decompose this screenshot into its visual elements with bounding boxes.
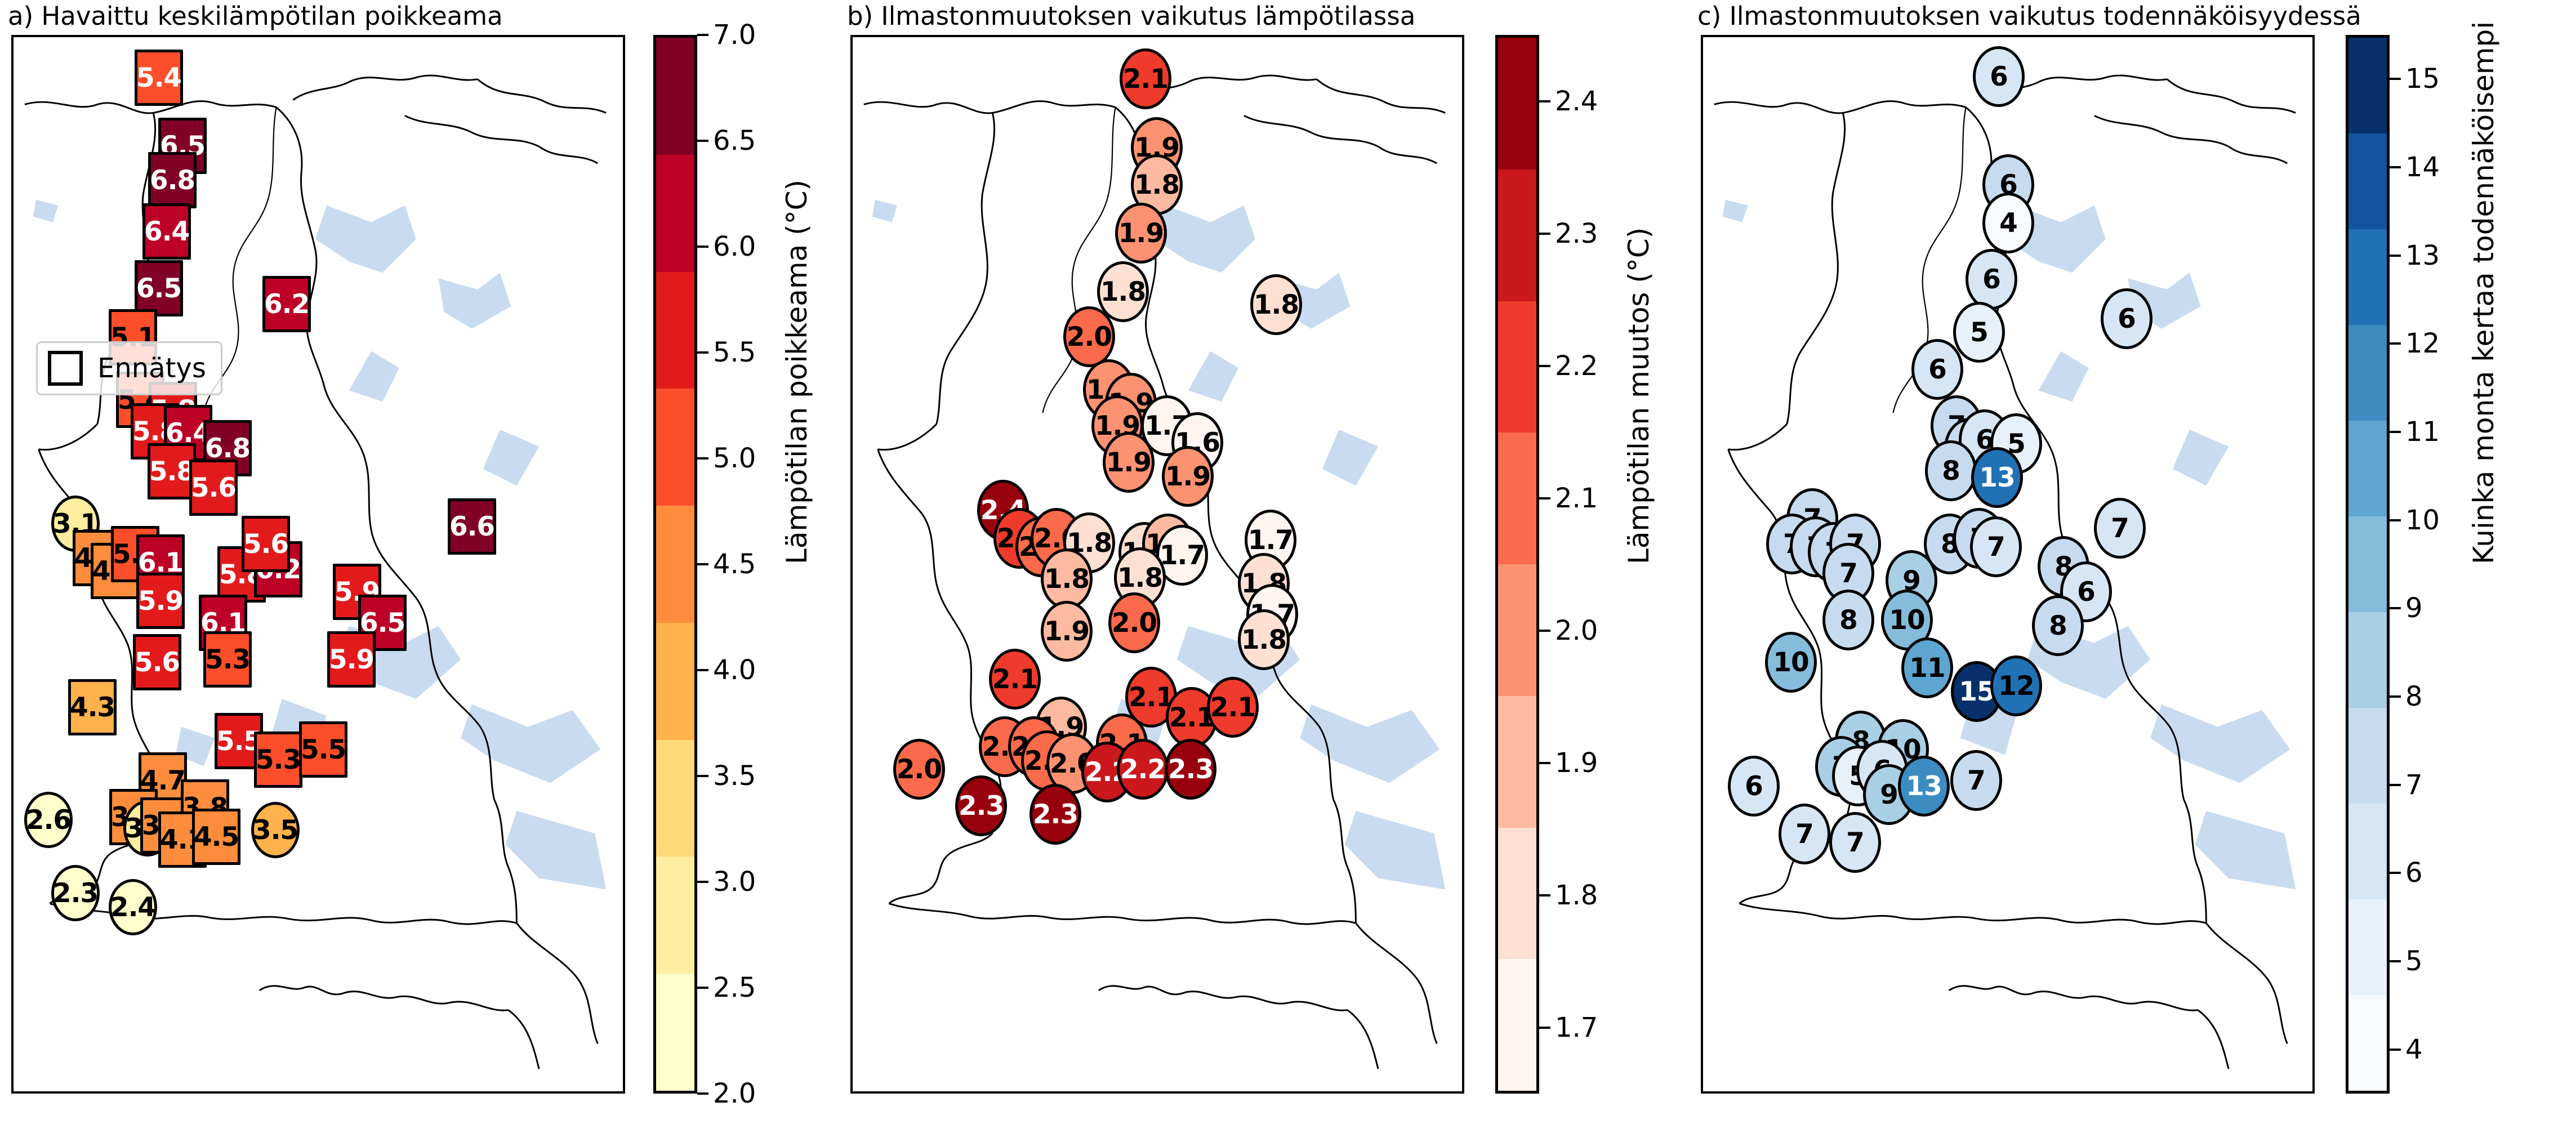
tick-mark	[2390, 431, 2401, 433]
station-marker[interactable]: 5.6	[189, 460, 238, 516]
tick-mark	[697, 246, 708, 248]
station-marker[interactable]: 7	[1779, 804, 1830, 864]
station-marker[interactable]: 2.3	[1165, 739, 1216, 800]
panel-c: c) Ilmastonmuutoksen vaikutus todennäköi…	[1667, 0, 2576, 1133]
colorbar-b-tick: 1.8	[1539, 880, 1598, 911]
colorbar-b-label: Lämpötilan muutos (°C)	[1623, 228, 1655, 564]
tick-mark	[697, 1092, 708, 1095]
station-marker[interactable]: 6	[1966, 249, 2017, 310]
legend-record-label: Ennätys	[97, 353, 206, 384]
tick-mark	[697, 34, 708, 36]
colorbar-c-gradient	[2346, 35, 2390, 1094]
station-marker[interactable]: 2.3	[51, 865, 100, 921]
tick-mark	[1539, 365, 1550, 367]
colorbar-a-segment-7	[656, 155, 694, 272]
colorbar-a-segment-4	[656, 506, 694, 623]
colorbar-c-tick: 11	[2390, 416, 2440, 448]
colorbar-b-segment-5	[1498, 301, 1536, 433]
colorbar-c-segment-9	[2348, 133, 2387, 229]
colorbar-a-tick: 7.0	[697, 19, 756, 51]
tick-label: 8	[2405, 681, 2423, 712]
tick-mark	[2390, 166, 2401, 168]
tick-label: 1.9	[1555, 747, 1598, 779]
station-marker[interactable]: 6	[1973, 46, 2025, 107]
colorbar-c-tick: 15	[2390, 63, 2440, 95]
tick-label: 2.5	[713, 972, 756, 1003]
colorbar-c-tick: 9	[2390, 592, 2423, 624]
tick-mark	[1539, 497, 1550, 499]
colorbar-c-tick: 8	[2390, 681, 2423, 712]
tick-mark	[697, 351, 708, 354]
colorbar-b-tick: 1.9	[1539, 747, 1598, 779]
colorbar-c-segment-1	[2348, 899, 2387, 995]
station-marker[interactable]: 4.5	[192, 809, 240, 865]
station-marker[interactable]: 2.6	[24, 792, 73, 848]
station-marker[interactable]: 13	[1898, 756, 1950, 817]
station-marker[interactable]: 1.8	[1250, 274, 1302, 335]
colorbar-b-segment-0	[1498, 959, 1536, 1091]
station-marker[interactable]: 2.0	[1108, 592, 1160, 653]
tick-mark	[1539, 233, 1550, 235]
tick-mark	[697, 881, 708, 883]
colorbar-b-gradient	[1495, 35, 1539, 1094]
tick-label: 6.5	[713, 125, 756, 157]
colorbar-b-segment-3	[1498, 564, 1536, 696]
colorbar-a-tick: 2.5	[697, 972, 756, 1003]
tick-label: 2.1	[1555, 483, 1598, 514]
tick-mark	[697, 457, 708, 460]
station-marker[interactable]: 2.2	[1117, 739, 1169, 800]
tick-mark	[2390, 695, 2401, 698]
map-c-axes[interactable]: 6646566776581377777787779868108101115128…	[1701, 35, 2315, 1094]
colorbar-c-tick: 4	[2390, 1034, 2423, 1065]
station-marker[interactable]: 2.0	[893, 739, 945, 800]
station-marker[interactable]: 5.9	[327, 631, 376, 688]
colorbar-a-segment-1	[656, 857, 694, 974]
station-marker[interactable]: 5.9	[136, 573, 185, 629]
tick-label: 7.0	[713, 19, 756, 51]
tick-label: 3.5	[713, 760, 756, 792]
colorbar-a-gradient	[653, 35, 697, 1094]
colorbar-c-segment-0	[2348, 995, 2387, 1091]
colorbar-c-segment-3	[2348, 708, 2387, 804]
tick-label: 6	[2405, 857, 2423, 889]
station-marker[interactable]: 2.3	[955, 775, 1007, 836]
colorbar-b-segment-2	[1498, 696, 1536, 828]
colorbar-b-tick: 2.1	[1539, 483, 1598, 514]
colorbar-a-segment-8	[656, 38, 694, 155]
climate-figure: a) Havaittu keskilämpötilan poikkeama	[0, 0, 2576, 1133]
tick-label: 4.0	[713, 654, 756, 686]
station-marker[interactable]: 7	[1970, 516, 2022, 577]
colorbar-a-tick: 6.0	[697, 231, 756, 262]
colorbar-c-label: Kuinka monta kertaa todennäköisempi	[2467, 21, 2500, 564]
tick-label: 1.7	[1555, 1012, 1598, 1043]
tick-mark	[2390, 960, 2401, 962]
colorbar-a-label: Lämpötilan poikkeama (°C)	[781, 180, 813, 564]
station-marker[interactable]: 6	[1728, 756, 1780, 817]
colorbar-a-segment-0	[656, 974, 694, 1091]
tick-mark	[697, 563, 708, 565]
station-marker[interactable]: 8	[2032, 595, 2084, 656]
tick-label: 5	[2405, 945, 2423, 977]
station-marker[interactable]: 2.3	[1029, 784, 1081, 845]
tick-mark	[2390, 872, 2401, 874]
colorbar-b-tick: 2.3	[1539, 218, 1598, 249]
colorbar-c-segment-6	[2348, 421, 2387, 516]
station-marker[interactable]: 2.1	[989, 649, 1041, 710]
station-marker[interactable]: 8	[1822, 590, 1874, 650]
station-marker[interactable]: 5	[1953, 302, 2005, 363]
tick-label: 12	[2405, 328, 2440, 359]
tick-mark	[697, 987, 708, 989]
tick-mark	[697, 669, 708, 671]
panel-b: b) Ilmastonmuutoksen vaikutus lämpötilas…	[822, 0, 1667, 1133]
station-marker[interactable]: 1.9	[1162, 446, 1214, 507]
colorbar-a-segment-6	[656, 272, 694, 389]
colorbar-a-segment-3	[656, 623, 694, 740]
colorbar-b-segment-6	[1498, 169, 1536, 301]
station-marker[interactable]: 11	[1901, 637, 1953, 698]
tick-label: 13	[2405, 240, 2440, 271]
colorbar-c-tick: 6	[2390, 857, 2423, 889]
station-marker[interactable]: 7	[1829, 812, 1881, 873]
colorbar-b-tick: 2.0	[1539, 615, 1598, 646]
station-marker[interactable]: 1.8	[1041, 548, 1093, 609]
station-marker[interactable]: 6.4	[142, 203, 191, 260]
station-marker[interactable]: 5.3	[254, 731, 302, 788]
station-marker[interactable]: 1.9	[1041, 601, 1093, 662]
panel-c-title: c) Ilmastonmuutoksen vaikutus todennäköi…	[1697, 1, 2361, 31]
map-a-axes[interactable]: 5.46.56.86.46.56.25.15.45.85.86.46.85.85…	[11, 35, 625, 1094]
tick-mark	[697, 140, 708, 142]
colorbar-b-ticks: 2.42.32.22.12.01.91.81.7	[1539, 35, 1635, 1094]
colorbar-c-segment-10	[2348, 38, 2387, 133]
station-marker[interactable]: 12	[1990, 655, 2042, 716]
colorbar-c-tick: 12	[2390, 328, 2440, 359]
station-marker[interactable]: 6.2	[262, 276, 311, 332]
colorbar-c-segment-5	[2348, 516, 2387, 612]
tick-label: 6.0	[713, 231, 756, 262]
colorbar-b-tick: 2.4	[1539, 86, 1598, 117]
tick-mark	[2390, 342, 2401, 345]
panel-a-title: a) Havaittu keskilämpötilan poikkeama	[8, 1, 503, 31]
station-marker[interactable]: 5.6	[133, 634, 181, 690]
tick-mark	[697, 775, 708, 777]
colorbar-c-segment-2	[2348, 804, 2387, 899]
legend-record-swatch	[48, 351, 83, 386]
tick-mark	[2390, 255, 2401, 257]
colorbar-a-tick: 3.0	[697, 866, 756, 898]
station-marker[interactable]: 1.9	[1103, 432, 1155, 493]
colorbar-a-segment-5	[656, 389, 694, 506]
tick-label: 2.4	[1555, 86, 1598, 117]
station-marker[interactable]: 6.8	[148, 152, 197, 208]
colorbar-c-tick: 5	[2390, 945, 2423, 977]
tick-label: 2.2	[1555, 350, 1598, 382]
colorbar-c-segment-4	[2348, 612, 2387, 708]
colorbar-c-segment-7	[2348, 325, 2387, 421]
tick-label: 10	[2405, 505, 2440, 536]
colorbar-a-tick: 2.0	[697, 1078, 756, 1109]
tick-label: 2.0	[1555, 615, 1598, 646]
colorbar-a-ticks: 7.06.56.05.55.04.54.03.53.02.52.0	[697, 35, 793, 1094]
tick-mark	[2390, 784, 2401, 786]
tick-label: 2.0	[713, 1078, 756, 1109]
tick-label: 14	[2405, 151, 2440, 183]
station-marker[interactable]: 6.5	[135, 260, 183, 316]
tick-mark	[1539, 894, 1550, 896]
panel-a: a) Havaittu keskilämpötilan poikkeama	[0, 0, 822, 1133]
tick-label: 9	[2405, 592, 2423, 624]
colorbar-c-segment-8	[2348, 229, 2387, 325]
station-marker[interactable]: 5.6	[242, 516, 290, 572]
station-marker[interactable]: 10	[1765, 632, 1817, 693]
station-marker[interactable]: 5.4	[135, 50, 183, 106]
colorbar-a-tick: 5.0	[697, 443, 756, 474]
station-marker[interactable]: 2.0	[1063, 306, 1115, 367]
station-marker[interactable]: 13	[1971, 447, 2023, 508]
tick-label: 11	[2405, 416, 2440, 448]
station-marker[interactable]: 2.1	[1120, 48, 1171, 109]
colorbar-b-segment-1	[1498, 828, 1536, 960]
station-marker[interactable]: 7	[1950, 750, 2002, 811]
station-marker[interactable]: 5.5	[299, 721, 347, 778]
colorbar-a-tick: 4.5	[697, 548, 756, 580]
station-marker[interactable]: 6.6	[448, 498, 496, 555]
station-marker[interactable]: 3.5	[251, 802, 300, 858]
tick-mark	[1539, 630, 1550, 632]
panel-b-title: b) Ilmastonmuutoksen vaikutus lämpötilas…	[847, 1, 1415, 31]
tick-mark	[1539, 1027, 1550, 1029]
tick-label: 15	[2405, 63, 2440, 95]
tick-mark	[1539, 100, 1550, 102]
tick-label: 7	[2405, 769, 2423, 801]
colorbar-a-tick: 5.5	[697, 337, 756, 368]
station-marker[interactable]: 6	[1911, 339, 1963, 400]
colorbar-b-segment-7	[1498, 38, 1536, 169]
colorbar-a-tick: 4.0	[697, 654, 756, 686]
legend-a: Ennätys	[36, 341, 222, 395]
colorbar-a-segment-2	[656, 740, 694, 857]
station-marker[interactable]: 4	[1982, 193, 2034, 253]
tick-mark	[2390, 78, 2401, 80]
tick-label: 4.5	[713, 548, 756, 580]
station-marker[interactable]: 4.3	[68, 679, 117, 735]
station-marker[interactable]: 6	[2101, 288, 2152, 349]
tick-mark	[2390, 519, 2401, 521]
colorbar-c-tick: 7	[2390, 769, 2423, 801]
tick-label: 3.0	[713, 866, 756, 898]
colorbar-b-segment-4	[1498, 432, 1536, 564]
map-b-axes[interactable]: 2.11.91.81.91.81.82.01.91.91.91.71.61.91…	[850, 35, 1464, 1094]
tick-mark	[2390, 1049, 2401, 1051]
tick-mark	[1539, 762, 1550, 764]
colorbar-a-tick: 3.5	[697, 760, 756, 792]
colorbar-c-tick: 14	[2390, 151, 2440, 183]
tick-label: 2.3	[1555, 218, 1598, 249]
colorbar-a-tick: 6.5	[697, 125, 756, 157]
colorbar-b-tick: 1.7	[1539, 1012, 1598, 1043]
station-marker[interactable]: 8	[1925, 440, 1977, 501]
station-marker[interactable]: 2.4	[109, 879, 157, 935]
station-marker[interactable]: 5.3	[203, 631, 252, 688]
tick-label: 4	[2405, 1034, 2423, 1065]
station-marker[interactable]: 1.8	[1238, 609, 1290, 670]
station-marker[interactable]: 2.1	[1207, 677, 1259, 738]
colorbar-b-tick: 2.2	[1539, 350, 1598, 382]
station-marker[interactable]: 7	[2094, 498, 2146, 559]
colorbar-c-tick: 13	[2390, 240, 2440, 271]
colorbar-c-tick: 10	[2390, 505, 2440, 536]
tick-label: 5.5	[713, 337, 756, 368]
station-marker[interactable]: 1.9	[1115, 203, 1167, 264]
tick-mark	[2390, 607, 2401, 609]
tick-label: 5.0	[713, 443, 756, 474]
tick-label: 1.8	[1555, 880, 1598, 911]
